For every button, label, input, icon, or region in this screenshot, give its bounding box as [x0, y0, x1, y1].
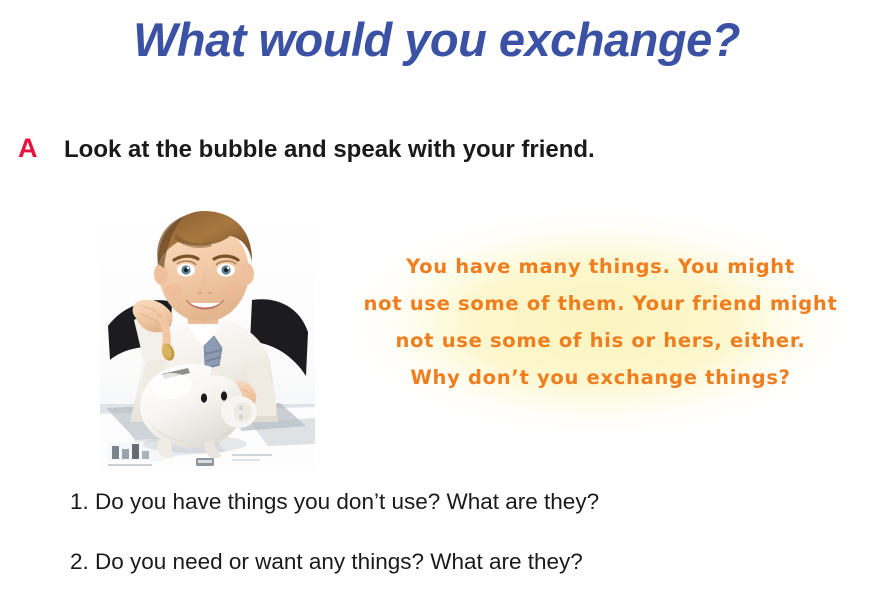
- page-title: What would you exchange?: [0, 12, 873, 67]
- question-item-1: 1. Do you have things you don’t use? Wha…: [70, 489, 599, 515]
- task-instruction-row: A Look at the bubble and speak with your…: [18, 133, 595, 164]
- speech-bubble: You have many things. You might not use …: [328, 196, 873, 450]
- piggy-bank-photo-illustration: [100, 208, 315, 470]
- bubble-line-3: not use some of his or hers, either.: [328, 322, 873, 359]
- question-item-2: 2. Do you need or want any things? What …: [70, 549, 583, 575]
- task-letter-badge: A: [18, 133, 64, 164]
- bubble-line-1: You have many things. You might: [328, 248, 873, 285]
- bubble-line-2: not use some of them. Your friend might: [328, 285, 873, 322]
- piggy-bank-photo: [100, 208, 315, 470]
- task-instruction-text: Look at the bubble and speak with your f…: [64, 136, 595, 164]
- worksheet-page: What would you exchange? A Look at the b…: [0, 0, 873, 612]
- bubble-line-4: Why don’t you exchange things?: [328, 359, 873, 396]
- speech-bubble-text: You have many things. You might not use …: [328, 248, 873, 396]
